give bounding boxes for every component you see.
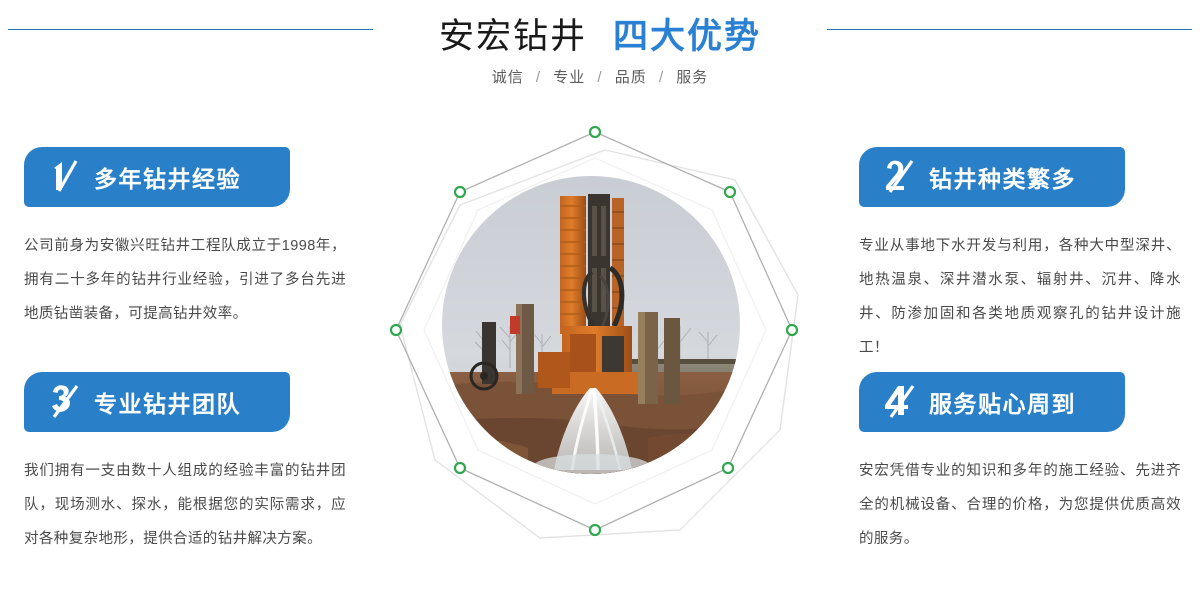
subtitle-item-1: 诚信 — [492, 69, 524, 86]
feature-card-4: 服务贴心周到 安宏凭借专业的知识和多年的施工经验、先进齐全的机械设备、合理的价格… — [859, 372, 1189, 556]
vertex-dot-bottom — [590, 525, 600, 535]
drilling-rig-photo — [442, 176, 740, 474]
vertex-dot-top — [590, 127, 600, 137]
feature-title-1: 多年钻井经验 — [94, 160, 241, 194]
feature-badge-2[interactable]: 钻井种类繁多 — [859, 147, 1125, 207]
feature-card-1: 多年钻井经验 公司前身为安徽兴旺钻井工程队成立于1998年，拥有二十多年的钻井行… — [24, 147, 354, 331]
feature-body-4: 安宏凭借专业的知识和多年的施工经验、先进齐全的机械设备、合理的价格，为您提供优质… — [859, 454, 1181, 556]
vertex-dot-upper-left — [455, 187, 465, 197]
subtitle-separator-1: / — [536, 69, 541, 86]
feature-body-1: 公司前身为安徽兴旺钻井工程队成立于1998年，拥有二十多年的钻井行业经验，引进了… — [24, 229, 346, 331]
feature-body-3: 我们拥有一支由数十人组成的经验丰富的钻井团队，现场测水、探水，能根据您的实际需求… — [24, 454, 346, 556]
center-graphic — [380, 110, 820, 570]
numeral-three-slash-icon — [46, 381, 92, 423]
features-column-left: 多年钻井经验 公司前身为安徽兴旺钻井工程队成立于1998年，拥有二十多年的钻井行… — [24, 0, 354, 600]
feature-badge-3[interactable]: 专业钻井团队 — [24, 372, 290, 432]
features-column-right: 钻井种类繁多 专业从事地下水开发与利用，各种大中型深井、地热温泉、深井潜水泵、辐… — [859, 0, 1189, 600]
vertex-dot-right — [787, 325, 797, 335]
feature-badge-1[interactable]: 多年钻井经验 — [24, 147, 290, 207]
numeral-one-slash-icon — [46, 156, 92, 198]
vertex-dot-upper-right — [725, 187, 735, 197]
feature-title-3: 专业钻井团队 — [94, 385, 241, 419]
feature-body-2: 专业从事地下水开发与利用，各种大中型深井、地热温泉、深井潜水泵、辐射井、沉井、降… — [859, 229, 1181, 365]
feature-title-2: 钻井种类繁多 — [929, 160, 1076, 194]
vertex-dot-left — [391, 325, 401, 335]
title-main-text: 安宏钻井 — [439, 17, 587, 56]
numeral-four-slash-icon — [881, 381, 927, 423]
numeral-two-slash-icon — [881, 156, 927, 198]
feature-card-2: 钻井种类繁多 专业从事地下水开发与利用，各种大中型深井、地热温泉、深井潜水泵、辐… — [859, 147, 1189, 365]
feature-badge-4[interactable]: 服务贴心周到 — [859, 372, 1125, 432]
subtitle-separator-2: / — [597, 69, 602, 86]
subtitle-item-2: 专业 — [553, 69, 585, 86]
vertex-dot-lower-left — [455, 463, 465, 473]
feature-card-3: 专业钻井团队 我们拥有一支由数十人组成的经验丰富的钻井团队，现场测水、探水，能根… — [24, 372, 354, 556]
subtitle-item-4: 服务 — [676, 69, 708, 86]
vertex-dot-lower-right — [723, 463, 733, 473]
feature-title-4: 服务贴心周到 — [929, 385, 1076, 419]
subtitle-separator-3: / — [659, 69, 664, 86]
subtitle-item-3: 品质 — [615, 69, 647, 86]
title-accent-text: 四大优势 — [613, 17, 761, 56]
